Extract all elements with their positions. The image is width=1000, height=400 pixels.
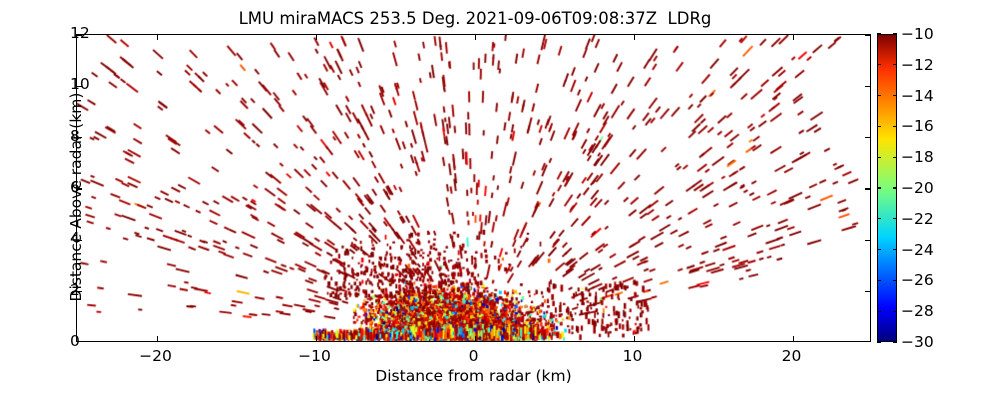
colorbar-tick-label: −24 (901, 241, 934, 259)
colorbar-tick-right (893, 33, 897, 34)
colorbar-tick-right (893, 187, 897, 188)
colorbar-tick-label: −18 (901, 148, 934, 166)
colorbar-tick-right (893, 157, 897, 158)
colorbar-tick (877, 64, 881, 65)
colorbar-tick-label: −14 (901, 87, 934, 105)
scatter-data-layer (77, 35, 870, 341)
x-tick-top (634, 35, 635, 40)
x-tick-label: 20 (782, 347, 802, 365)
y-tick-right (865, 137, 870, 138)
y-tick-right (865, 34, 870, 35)
x-axis-label: Distance from radar (km) (76, 367, 871, 385)
x-tick-label: 0 (469, 347, 479, 365)
colorbar-tick-label: −20 (901, 179, 934, 197)
colorbar-tick-label: −26 (901, 271, 934, 289)
colorbar-tick (877, 95, 881, 96)
colorbar-tick-label: −10 (901, 25, 934, 43)
colorbar-tick (877, 187, 881, 188)
y-tick-right (865, 86, 870, 87)
colorbar-tick-right (893, 280, 897, 281)
x-tick-label: −20 (139, 347, 172, 365)
colorbar-tick (877, 249, 881, 250)
colorbar-tick (877, 33, 881, 34)
y-tick-right (865, 291, 870, 292)
colorbar-tick-right (893, 64, 897, 65)
colorbar-tick-label: −22 (901, 210, 934, 228)
colorbar-tick-label: −28 (901, 302, 934, 320)
x-tick-top (793, 35, 794, 40)
y-axis-label: Distance Above radar (km) (67, 42, 85, 352)
x-tick (316, 336, 317, 341)
x-tick-top (316, 35, 317, 40)
colorbar-tick-label: −30 (901, 333, 934, 351)
colorbar-tick (877, 311, 881, 312)
page-title: LMU miraMACS 253.5 Deg. 2021-09-06T09:08… (0, 9, 950, 28)
colorbar-tick-right (893, 126, 897, 127)
colorbar-tick-right (893, 249, 897, 250)
x-tick-top (475, 35, 476, 40)
colorbar-tick-right (893, 311, 897, 312)
colorbar-tick-label: −12 (901, 56, 934, 74)
colorbar[interactable] (877, 34, 897, 342)
colorbar-tick (877, 280, 881, 281)
y-tick-right (865, 188, 870, 189)
x-tick-label: 10 (623, 347, 643, 365)
colorbar-tick (877, 218, 881, 219)
x-tick-label: −10 (298, 347, 331, 365)
x-tick (157, 336, 158, 341)
colorbar-tick (877, 341, 881, 342)
radar-rhi-figure: LMU miraMACS 253.5 Deg. 2021-09-06T09:08… (0, 0, 1000, 400)
colorbar-tick-label: −16 (901, 117, 934, 135)
x-tick (475, 336, 476, 341)
y-tick-right (865, 240, 870, 241)
colorbar-tick-right (893, 218, 897, 219)
x-tick-top (157, 35, 158, 40)
colorbar-tick-right (893, 95, 897, 96)
colorbar-tick (877, 126, 881, 127)
x-tick (634, 336, 635, 341)
colorbar-tick (877, 157, 881, 158)
x-tick (793, 336, 794, 341)
plot-axes[interactable] (76, 34, 871, 342)
colorbar-tick-right (893, 341, 897, 342)
